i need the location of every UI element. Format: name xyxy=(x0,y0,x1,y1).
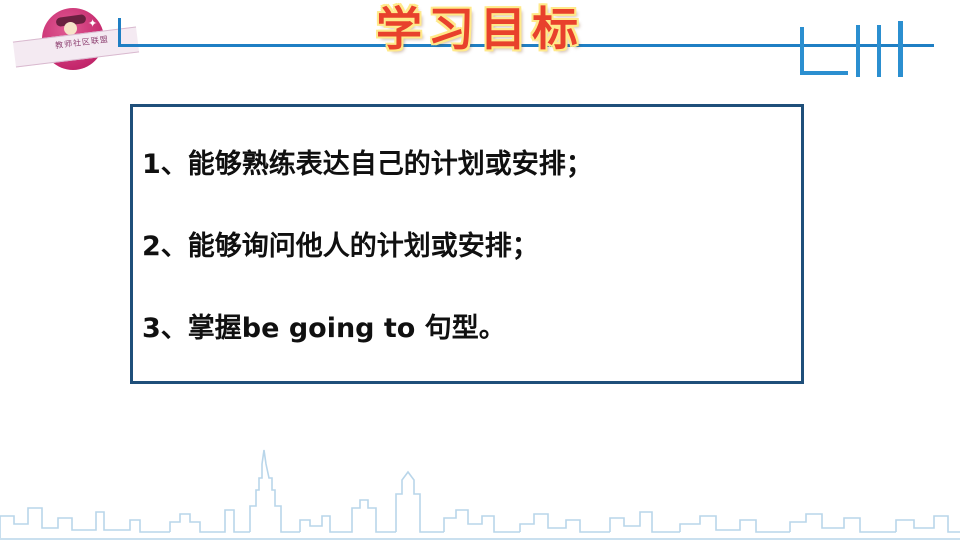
decor-bar-icon xyxy=(898,21,903,77)
list-item: 3、掌握be going to 句型。 xyxy=(142,306,802,345)
city-skyline-decoration xyxy=(0,420,960,540)
decor-bars-icon xyxy=(856,25,881,77)
list-item: 2、能够询问他人的计划或安排； xyxy=(142,224,802,263)
list-item: 1、能够熟练表达自己的计划或安排； xyxy=(142,142,802,181)
objectives-list: 1、能够熟练表达自己的计划或安排； 2、能够询问他人的计划或安排； 3、掌握be… xyxy=(142,142,802,345)
slide-canvas: ✦ ✦ 教师社区联盟 学习目标 1、能够熟练表达自己的计划或安排； 2、能够询问… xyxy=(0,0,960,540)
decor-bracket-icon xyxy=(800,27,848,75)
